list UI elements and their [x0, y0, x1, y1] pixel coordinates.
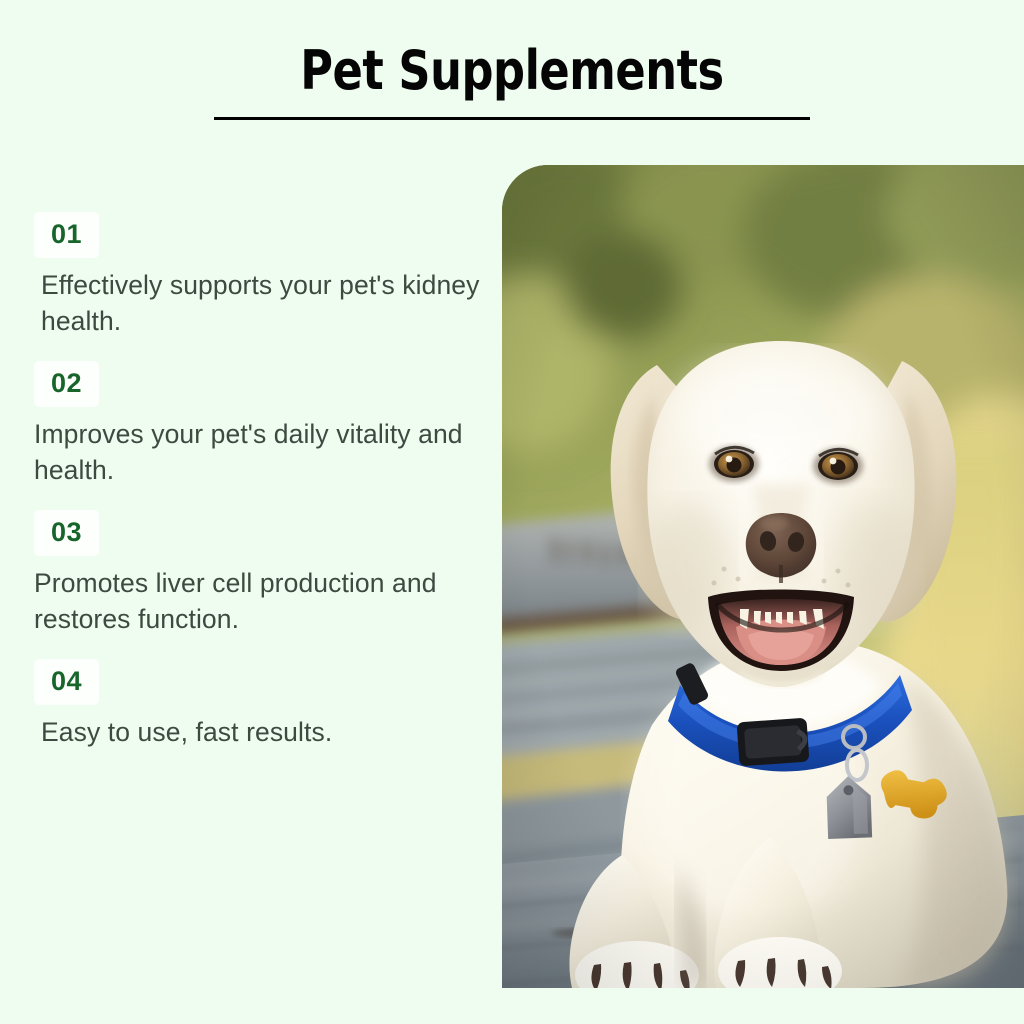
feature-number-badge: 02	[34, 361, 99, 407]
page-title: Pet Supplements	[41, 44, 983, 98]
feature-text: Easy to use, fast results.	[34, 714, 504, 750]
dog-photo	[502, 165, 1024, 988]
list-item: 02 Improves your pet's daily vitality an…	[34, 361, 504, 488]
dog-photo-illustration	[502, 165, 1024, 988]
feature-number-badge: 01	[34, 212, 99, 258]
list-item: 01 Effectively supports your pet's kidne…	[34, 212, 504, 339]
feature-text: Improves your pet's daily vitality and h…	[34, 416, 504, 488]
feature-text: Effectively supports your pet's kidney h…	[34, 267, 504, 339]
list-item: 04 Easy to use, fast results.	[34, 659, 504, 750]
page-header: Pet Supplements	[0, 44, 1024, 120]
feature-text: Promotes liver cell production and resto…	[34, 565, 504, 637]
feature-list: 01 Effectively supports your pet's kidne…	[34, 212, 504, 750]
list-item: 03 Promotes liver cell production and re…	[34, 510, 504, 637]
title-underline-rule	[214, 117, 810, 120]
feature-number-badge: 03	[34, 510, 99, 556]
feature-number-badge: 04	[34, 659, 99, 705]
